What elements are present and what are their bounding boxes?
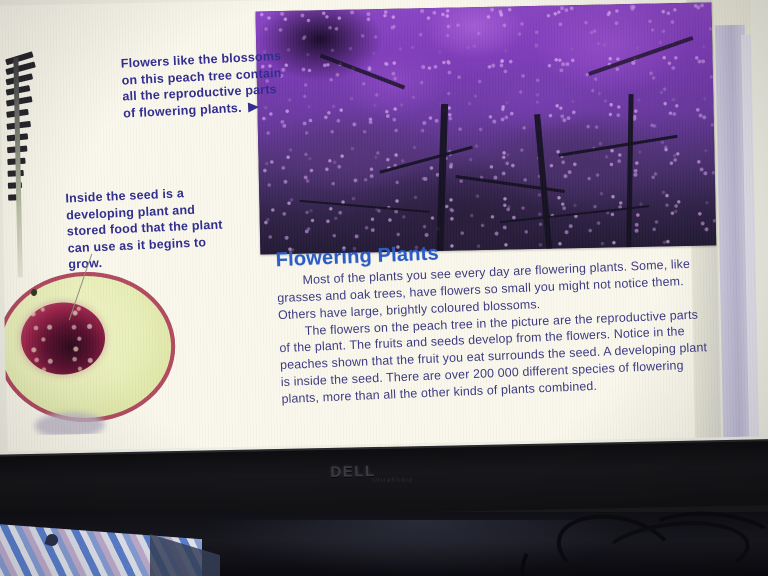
dell-logo: DELL — [330, 463, 376, 481]
monitor-screen: Flowers like the blossoms on this peach … — [0, 0, 768, 490]
left-edge-striped-graphic — [5, 53, 43, 254]
seed-caption: Inside the seed is a developing plant an… — [65, 183, 239, 273]
article-paragraph: The flowers on the peach tree in the pic… — [278, 306, 709, 408]
article-text-column: Flowering Plants Most of the plants you … — [275, 231, 709, 408]
screen-surface: Flowers like the blossoms on this peach … — [0, 0, 768, 464]
blossom-speckle-texture — [255, 2, 716, 254]
tree-caption: Flowers like the blossoms on this peach … — [120, 48, 289, 122]
blossom-tree-photo — [255, 2, 716, 254]
peach-shadow — [35, 412, 106, 436]
photo-of-monitor-scene: Flowers like the blossoms on this peach … — [0, 0, 768, 576]
right-triangle-arrow-icon — [247, 102, 258, 113]
displayed-document-page[interactable]: Flowers like the blossoms on this peach … — [0, 0, 759, 452]
peach-cross-section-photo — [0, 260, 185, 436]
dell-sublabel: UltraSharp — [373, 477, 414, 484]
